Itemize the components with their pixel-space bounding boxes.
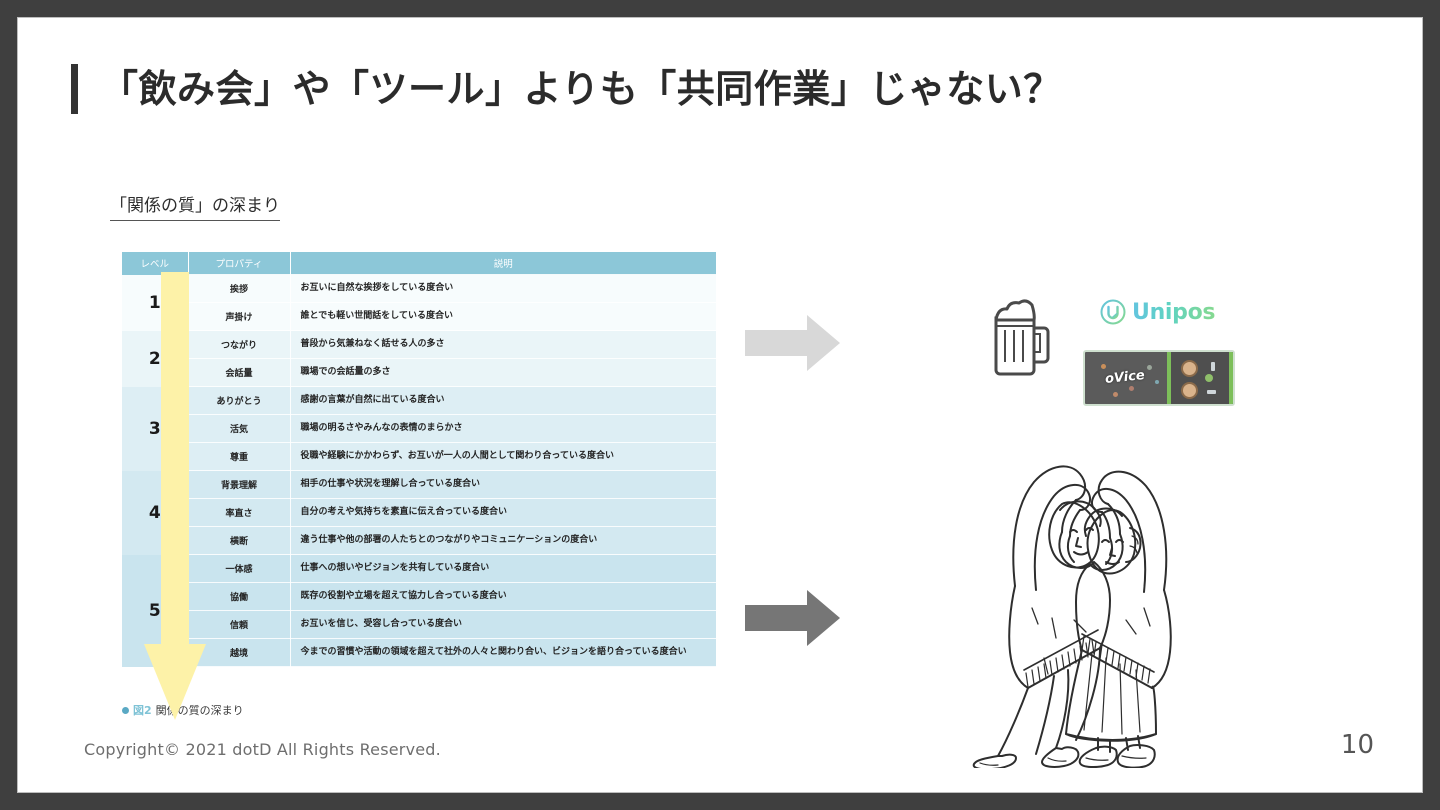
table-row: 会話量職場での会話量の多さ [122,359,716,387]
property-cell: ありがとう [188,387,290,415]
screenshot-viewport: 「飲み会」や「ツール」よりも「共同作業」じゃない？ 「関係の質」の深まり レベル… [0,0,1440,810]
unipos-wordmark: Unipos [1132,300,1215,325]
table-row: 尊重役職や経験にかかわらず、お互いが一人の人間として関わり合っている度合い [122,443,716,471]
column-header-property: プロパティ [188,252,290,275]
description-cell: 違う仕事や他の部署の人たちとのつながりやコミュニケーションの度合い [290,527,716,555]
column-header-level: レベル [122,252,188,275]
property-cell: つながり [188,331,290,359]
level-number: 2 [149,349,161,369]
description-cell: お互いを信じ、受容し合っている度合い [290,611,716,639]
table-header-row: レベル プロパティ 説明 [122,252,716,275]
property-cell: 尊重 [188,443,290,471]
table-row: 信頼お互いを信じ、受容し合っている度合い [122,611,716,639]
description-cell: 役職や経験にかかわらず、お互いが一人の人間として関わり合っている度合い [290,443,716,471]
level-number: 3 [149,419,161,439]
description-cell: 相手の仕事や状況を理解し合っている度合い [290,471,716,499]
property-cell: 信頼 [188,611,290,639]
level-cell: 2 [122,331,188,387]
level-number: 4 [149,503,161,523]
table-row: 4背景理解相手の仕事や状況を理解し合っている度合い [122,471,716,499]
level-cell: 5 [122,555,188,667]
ovice-label: oVice [1104,368,1145,387]
column-header-description: 説明 [290,252,716,275]
table-row: 協働既存の役割や立場を超えて協力し合っている度合い [122,583,716,611]
section-subtitle: 「関係の質」の深まり [110,196,280,221]
property-cell: 横断 [188,527,290,555]
page-number: 10 [1341,730,1374,760]
slide-title-row: 「飲み会」や「ツール」よりも「共同作業」じゃない？ [71,64,1062,114]
right-arrow-dark-icon [745,590,840,646]
description-cell: 普段から気兼ねなく話せる人の多さ [290,331,716,359]
table-row: 率直さ自分の考えや気持ちを素直に伝え合っている度合い [122,499,716,527]
title-accent-bar [71,64,78,114]
right-arrow-light-icon [745,315,840,371]
property-cell: 一体感 [188,555,290,583]
table-row: 1挨拶お互いに自然な挨拶をしている度合い [122,275,716,303]
property-cell: 越境 [188,639,290,667]
description-cell: 既存の役割や立場を超えて協力し合っている度合い [290,583,716,611]
table-row: 活気職場の明るさやみんなの表情のまらかさ [122,415,716,443]
description-cell: お互いに自然な挨拶をしている度合い [290,275,716,303]
property-cell: 協働 [188,583,290,611]
table-row: 5一体感仕事への想いやビジョンを共有している度合い [122,555,716,583]
caption-figure-text: 関係の質の深まり [156,702,244,718]
table-row: 越境今までの習慣や活動の領域を超えて社外の人々と関わり合い、ビジョンを語り合って… [122,639,716,667]
description-cell: 職場の明るさやみんなの表情のまらかさ [290,415,716,443]
unipos-logo: Unipos [1100,299,1215,325]
property-cell: 活気 [188,415,290,443]
table-body: 1挨拶お互いに自然な挨拶をしている度合い声掛け誰とでも軽い世間話をしている度合い… [122,275,716,667]
level-cell: 3 [122,387,188,471]
description-cell: 今までの習慣や活動の領域を超えて社外の人々と関わり合い、ビジョンを語り合っている… [290,639,716,667]
caption-bullet-icon [122,707,129,714]
property-cell: 挨拶 [188,275,290,303]
presentation-slide: 「飲み会」や「ツール」よりも「共同作業」じゃない？ 「関係の質」の深まり レベル… [18,18,1422,792]
description-cell: 職場での会話量の多さ [290,359,716,387]
property-cell: 声掛け [188,303,290,331]
property-cell: 背景理解 [188,471,290,499]
description-cell: 自分の考えや気持ちを素直に伝え合っている度合い [290,499,716,527]
level-cell: 1 [122,275,188,331]
ovice-room-area [1167,352,1233,404]
caption-figure-number: 図2 [133,702,152,718]
property-cell: 会話量 [188,359,290,387]
ovice-screenshot-card: oVice [1083,350,1235,406]
description-cell: 誰とでも軽い世間話をしている度合い [290,303,716,331]
level-cell: 4 [122,471,188,555]
table-row: 声掛け誰とでも軽い世間話をしている度合い [122,303,716,331]
unipos-mark-icon [1100,299,1126,325]
two-people-heart-arms-illustration [958,438,1212,768]
figure-caption: 図2 関係の質の深まり [122,702,244,718]
table-row: 3ありがとう感謝の言葉が自然に出ている度合い [122,387,716,415]
copyright-text: Copyright© 2021 dotD All Rights Reserved… [84,740,441,759]
table-row: 2つながり普段から気兼ねなく話せる人の多さ [122,331,716,359]
level-number: 1 [149,293,161,313]
relationship-quality-table-wrapper: レベル プロパティ 説明 1挨拶お互いに自然な挨拶をしている度合い声掛け誰とでも… [122,252,716,667]
beer-mug-icon [984,296,1058,378]
page-title: 「飲み会」や「ツール」よりも「共同作業」じゃない？ [100,70,1062,108]
relationship-quality-table: レベル プロパティ 説明 1挨拶お互いに自然な挨拶をしている度合い声掛け誰とでも… [122,252,716,667]
table-row: 横断違う仕事や他の部署の人たちとのつながりやコミュニケーションの度合い [122,527,716,555]
description-cell: 仕事への想いやビジョンを共有している度合い [290,555,716,583]
level-number: 5 [149,601,161,621]
property-cell: 率直さ [188,499,290,527]
description-cell: 感謝の言葉が自然に出ている度合い [290,387,716,415]
